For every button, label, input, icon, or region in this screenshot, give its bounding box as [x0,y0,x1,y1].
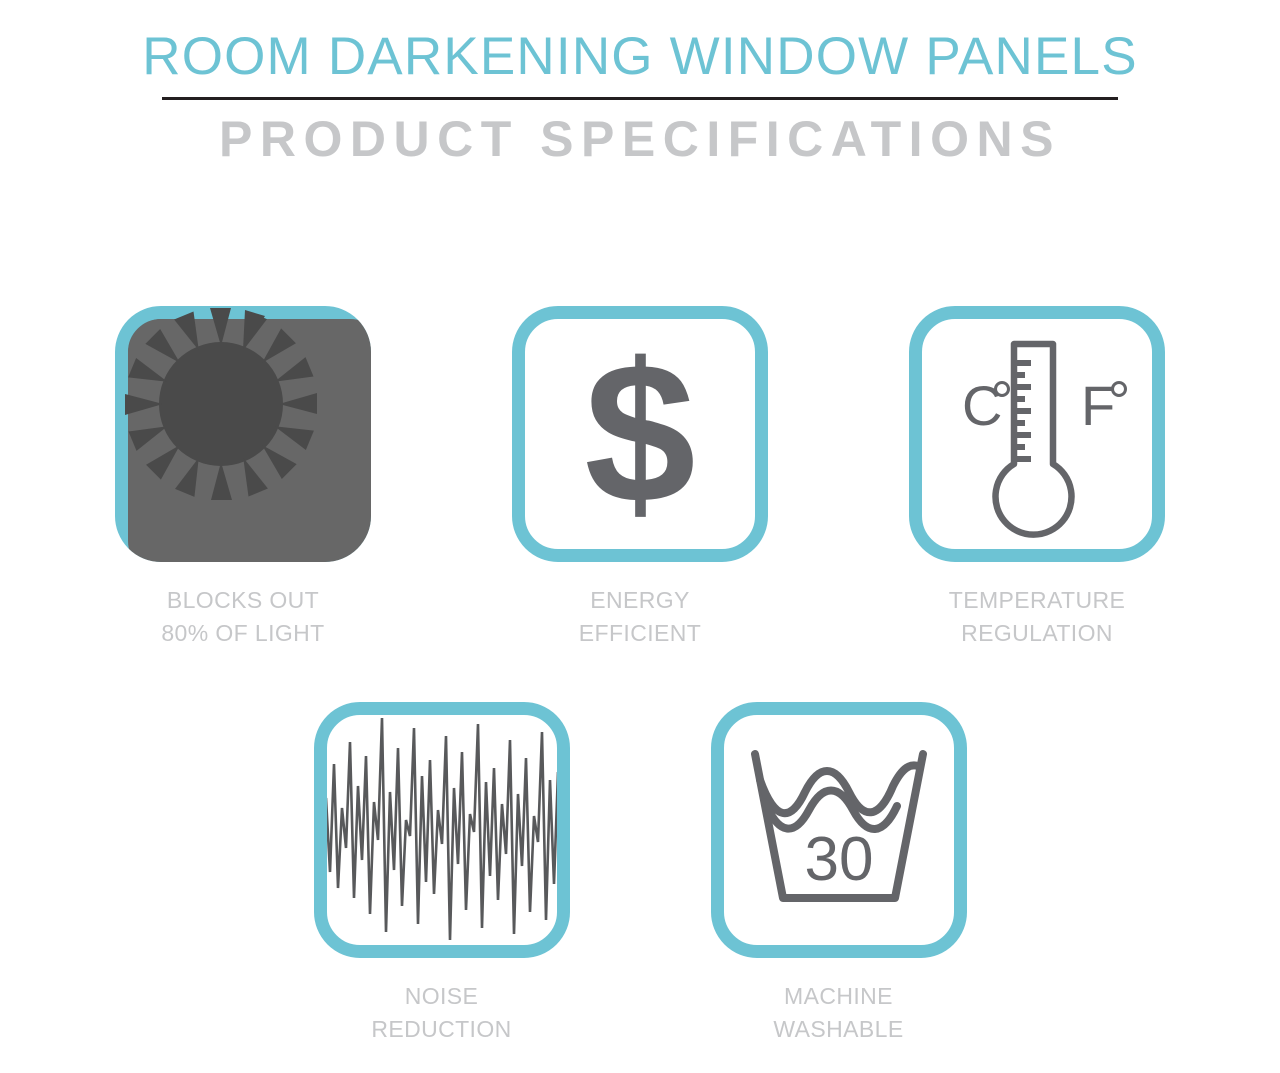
sound-wave-icon [314,702,570,958]
title-divider [162,97,1118,100]
spec-card-energy-efficient[interactable]: $ [512,306,768,562]
page-subtitle: PRODUCT SPECIFICATIONS [0,108,1280,170]
sound-wave-path [322,718,562,940]
page-title: ROOM DARKENING WINDOW PANELS [0,24,1280,90]
spec-card-blocks-light[interactable] [115,306,371,562]
card-clip-region [115,306,371,562]
specs-row-bottom: NOISE REDUCTION 30 MACHINE [0,702,1280,1046]
spec-card-machine-washable[interactable]: 30 [711,702,967,958]
spec-caption-noise-reduction: NOISE REDUCTION [371,980,511,1046]
spec-caption-energy-efficient: ENERGY EFFICIENT [579,584,701,650]
sun-blocked-icon [115,306,371,562]
thermometer-ticks [1014,363,1031,459]
spec-label-line2: EFFICIENT [579,617,701,650]
fahrenheit-label: F [1081,374,1115,437]
dollar-glyph: $ [584,334,695,534]
spec-item-energy-efficient[interactable]: $ ENERGY EFFICIENT [509,306,771,650]
specs-row-top: BLOCKS OUT 80% OF LIGHT $ ENERGY EFFICIE… [0,306,1280,650]
wash-basin-icon: 30 [739,740,939,920]
wash-temperature-label: 30 [804,825,873,894]
spec-caption-blocks-light: BLOCKS OUT 80% OF LIGHT [161,584,324,650]
specs-grid: BLOCKS OUT 80% OF LIGHT $ ENERGY EFFICIE… [0,306,1280,1046]
spec-caption-temperature: TEMPERATURE REGULATION [949,584,1126,650]
spec-label-line2: REGULATION [949,617,1126,650]
spec-item-machine-washable[interactable]: 30 MACHINE WASHABLE [708,702,970,1046]
spec-label-line2: REDUCTION [371,1013,511,1046]
spec-item-blocks-light[interactable]: BLOCKS OUT 80% OF LIGHT [112,306,374,650]
spec-label-line1: MACHINE [773,980,903,1013]
thermometer-body [995,344,1071,535]
page-header: ROOM DARKENING WINDOW PANELS PRODUCT SPE… [0,0,1280,170]
dollar-sign-icon: $ [565,334,715,534]
spec-card-noise-reduction[interactable] [314,702,570,958]
spec-label-line2: 80% OF LIGHT [161,617,324,650]
spec-label-line1: BLOCKS OUT [161,584,324,617]
spec-card-temperature[interactable]: C F [909,306,1165,562]
spec-label-line1: TEMPERATURE [949,584,1126,617]
spec-label-line2: WASHABLE [773,1013,903,1046]
thermometer-icon: C F [930,327,1145,542]
spec-label-line1: ENERGY [579,584,701,617]
spec-item-noise-reduction[interactable]: NOISE REDUCTION [311,702,573,1046]
spec-label-line1: NOISE [371,980,511,1013]
spec-item-temperature[interactable]: C F TEMPERATURE REGULATION [906,306,1168,650]
spec-caption-machine-washable: MACHINE WASHABLE [773,980,903,1046]
